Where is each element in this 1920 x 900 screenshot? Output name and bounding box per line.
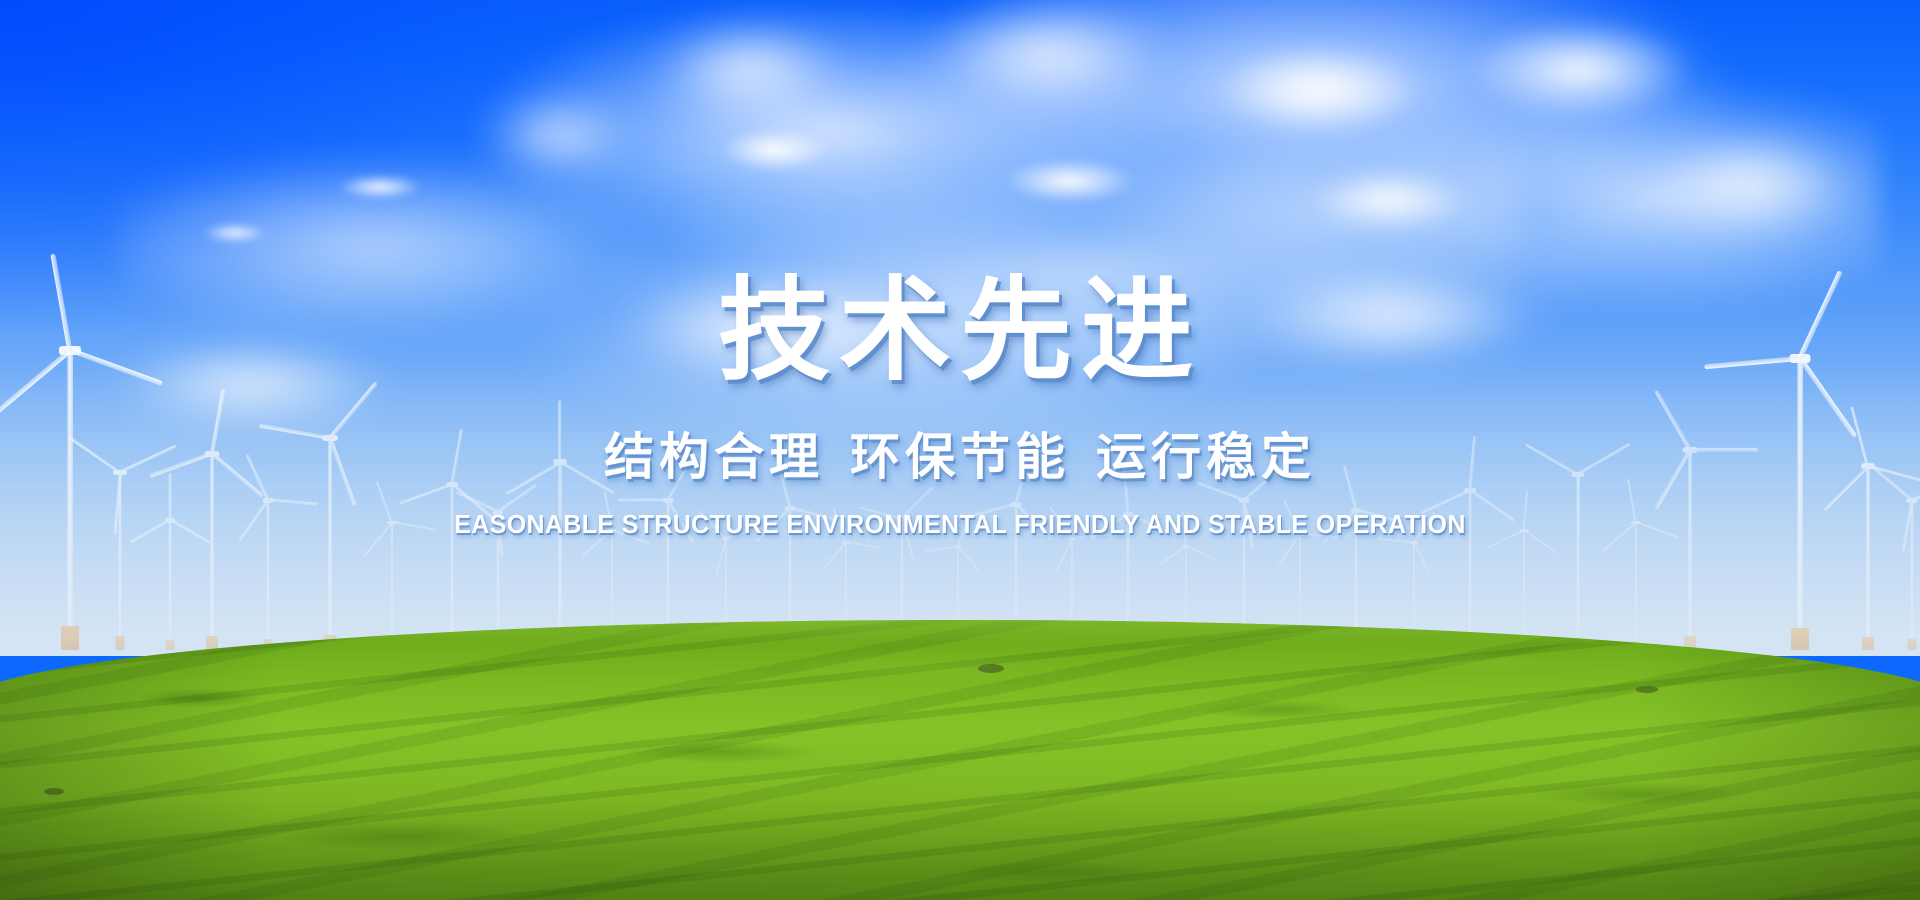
grass-vignette xyxy=(0,620,1920,900)
grass-field xyxy=(0,620,1920,900)
turbine-blade xyxy=(1798,270,1843,359)
hero-banner: 技术先进 结构合理环保节能运行稳定 EASONABLE STRUCTURE EN… xyxy=(0,0,1920,900)
turbine-blade xyxy=(50,253,72,350)
horizon-haze xyxy=(0,356,1920,656)
